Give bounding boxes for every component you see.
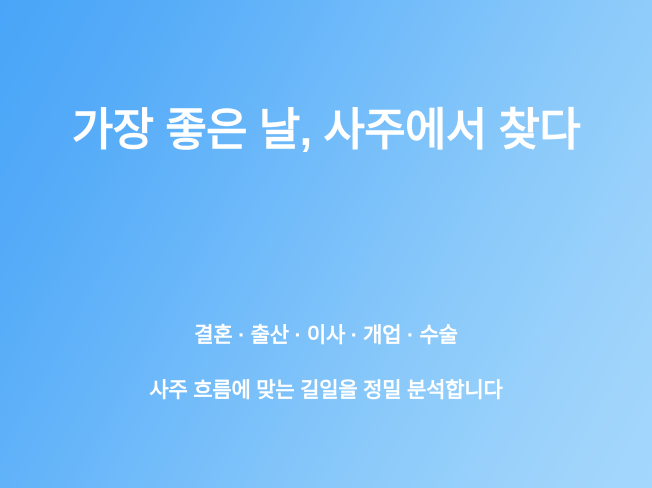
page-title: 가장 좋은 날, 사주에서 찾다 xyxy=(72,103,580,158)
subtitle-service-list: 결혼 · 출산 · 이사 · 개업 · 수술 xyxy=(0,322,652,349)
promo-banner: 가장 좋은 날, 사주에서 찾다 결혼 · 출산 · 이사 · 개업 · 수술 … xyxy=(0,0,652,488)
headline-container: 가장 좋은 날, 사주에서 찾다 xyxy=(0,103,652,158)
subtitle-container: 결혼 · 출산 · 이사 · 개업 · 수술 사주 흐름에 맞는 길일을 정밀 … xyxy=(0,322,652,405)
subtitle-description: 사주 흐름에 맞는 길일을 정밀 분석합니다 xyxy=(0,377,652,404)
